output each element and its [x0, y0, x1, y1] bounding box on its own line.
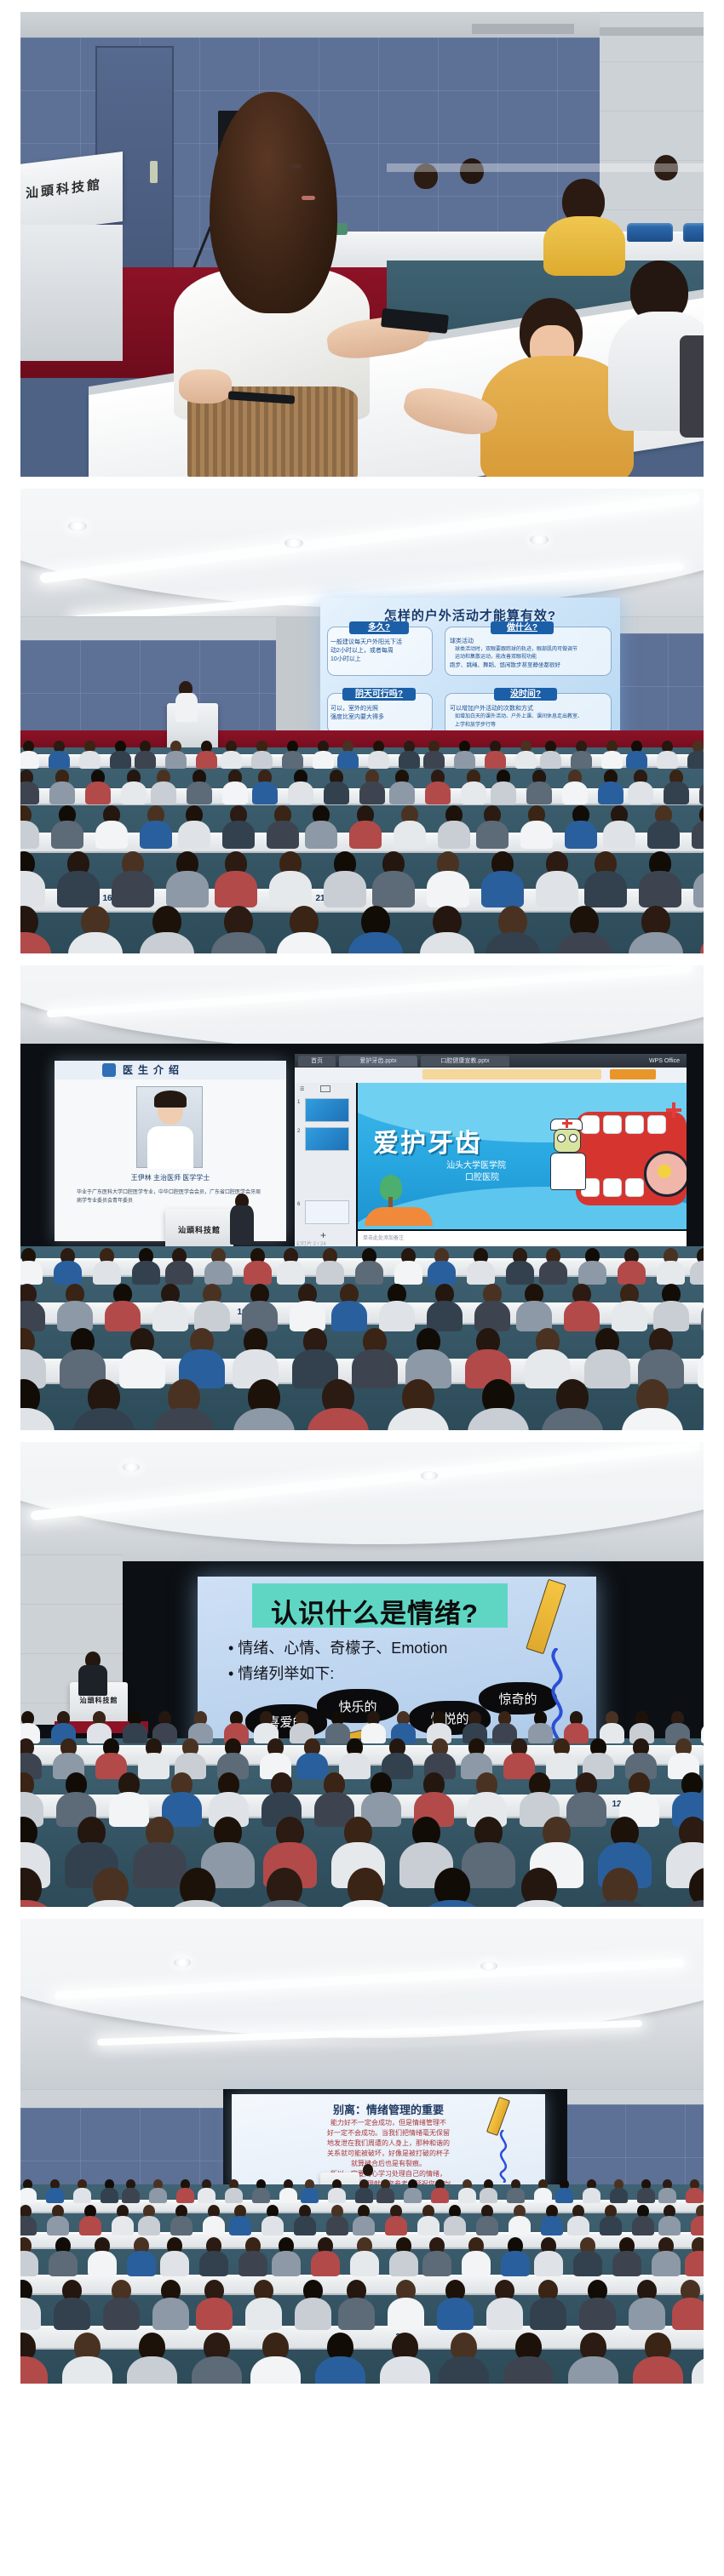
audience-torso: [288, 781, 313, 804]
photo-gallery-page: 汕頭科技館: [0, 0, 724, 2576]
audience-torso: [394, 821, 426, 849]
tooth-2: [603, 1115, 622, 1134]
tooth-4: [647, 1115, 666, 1134]
audience-torso: [313, 751, 334, 769]
audience-torso: [326, 2216, 349, 2235]
front-wall-blue-right-5: [566, 2104, 704, 2193]
audience-torso: [140, 821, 172, 849]
audience-torso: [88, 2251, 117, 2276]
audience-torso: [238, 2251, 267, 2276]
audience-torso: [565, 821, 597, 849]
tooth-3: [625, 1115, 644, 1134]
audience-torso: [509, 2216, 532, 2235]
audience-torso: [687, 751, 704, 769]
audience-torso: [338, 2298, 376, 2330]
audience-torso: [573, 2251, 602, 2276]
pc-projection-screen: 首页 爱护牙齿.pptx 口腔健康宣教.pptx WPS Office ☰ 1 …: [295, 1054, 687, 1248]
audience-torso: [267, 821, 299, 849]
doctor-intro-heading: 医生介绍: [123, 1063, 250, 1077]
audience-torso: [79, 2216, 102, 2235]
audience-torso: [566, 1792, 607, 1827]
audience-torso: [664, 781, 689, 804]
downlight-5-1: [174, 1958, 191, 1967]
audience-torso: [534, 2188, 552, 2203]
audience-torso: [151, 781, 176, 804]
audience-torso: [612, 1301, 647, 1331]
tooth-1: [581, 1115, 600, 1134]
audience-torso: [417, 2216, 440, 2235]
audience-torso: [176, 2188, 194, 2203]
audience-torso: [583, 2188, 600, 2203]
audience-torso: [647, 821, 680, 849]
dental-magnifier-bacteria: [658, 1165, 671, 1178]
far-row-desk: [387, 163, 704, 172]
audience-torso: [251, 751, 273, 769]
audience-torso: [555, 2188, 573, 2203]
audience-torso: [305, 821, 337, 849]
dental-ground-icon: [365, 1207, 433, 1226]
tooth-6: [603, 1178, 622, 1197]
ppt-notes-placeholder: 单击此处添加备注: [363, 1234, 404, 1241]
dentist-cap-cross-v: [566, 1119, 568, 1128]
audience-torso: [165, 1261, 192, 1285]
slide-body-line-2: 好一定不会成功。当我们把情绪毫无保留: [257, 2128, 520, 2138]
audience-torso: [152, 2298, 190, 2330]
audience-torso: [658, 2188, 676, 2203]
photo-3[interactable]: 医生介绍 王伊林 主治医师 医学学士 毕业于广东医科大学口腔医学专业，中华口腔医…: [20, 965, 704, 1430]
audience-torso: [404, 2188, 422, 2203]
slide-chip-3: 阴天可行吗?: [342, 688, 416, 701]
audience-torso: [203, 2216, 226, 2235]
audience-torso: [462, 1842, 515, 1888]
audience-torso: [49, 751, 70, 769]
audience-torso: [51, 821, 83, 849]
emotion-word-2: 快乐的: [317, 1689, 399, 1723]
audience-torso: [601, 751, 623, 769]
audience-torso: [520, 821, 553, 849]
audience-torso: [539, 1261, 566, 1285]
dentist-coat-icon: [550, 1153, 586, 1190]
audience-torso: [277, 1261, 304, 1285]
downlight-1: [68, 521, 87, 531]
slide-card-2-line-4: 跑步、跳绳、舞蹈、悠闲散步甚至静坐都很好: [450, 662, 560, 670]
audience-torso: [388, 2298, 425, 2330]
audience-torso: [486, 2298, 524, 2330]
slide-body-line-1: 能力好不一定会成功，但是情绪管理不: [257, 2118, 520, 2128]
audience-torso: [225, 2188, 243, 2203]
audience-torso: [101, 2188, 118, 2203]
audience-torso: [491, 781, 516, 804]
slide-chip-4: 没时间?: [494, 688, 557, 701]
audience-torso: [571, 751, 592, 769]
audience-torso: [194, 1301, 230, 1331]
audience-torso: [562, 781, 588, 804]
dental-slide: 爱护牙齿 汕头大学医学院 口腔医院: [358, 1083, 687, 1229]
audience-torso: [127, 2251, 156, 2276]
audience-torso: [352, 1349, 397, 1388]
downlight-4-1: [123, 1463, 140, 1472]
front-wall-blue: [20, 640, 276, 742]
audience-torso: [109, 1792, 150, 1827]
emotion-bullet-dot-2: •: [228, 1665, 238, 1682]
audience-torso: [361, 1723, 386, 1744]
audience-torso: [431, 2188, 449, 2203]
slide-card-1-line-1: 一般建议每天户外阳光下活: [330, 638, 402, 646]
audience-torso: [438, 821, 470, 849]
podium-label-3: 汕頭科技館: [165, 1224, 233, 1235]
audience-torso: [301, 2188, 319, 2203]
audience-torso: [485, 751, 506, 769]
audience-torso: [467, 1261, 494, 1285]
audience-torso: [20, 1301, 45, 1331]
audience-torso: [331, 1301, 367, 1331]
audience-torso: [379, 1301, 415, 1331]
ppt-thumb-2[interactable]: [305, 1127, 349, 1151]
audience-torso: [462, 2251, 491, 2276]
audience-torso: [325, 1723, 350, 1744]
audience-torso: [530, 2298, 567, 2330]
slide-body-line-4: 关系就可能被破坏，好像是被打破的杯子: [257, 2149, 520, 2159]
dentist-glasses-left: [557, 1134, 566, 1142]
presenter-eye: [290, 163, 302, 169]
slide-chip-2: 做什么?: [491, 621, 554, 634]
audience-torso: [105, 1301, 141, 1331]
podium-label-4: 汕頭科技館: [70, 1696, 128, 1705]
photo-5-scene: 别离：情绪管理的重要 能力好不一定会成功，但是情绪管理不 好一定不会成功。当我们…: [20, 1919, 704, 2384]
audience-torso: [85, 781, 111, 804]
audience-torso: [245, 2298, 283, 2330]
audience-torso: [458, 2188, 476, 2203]
audience-torso: [79, 751, 101, 769]
audience-torso: [567, 2216, 590, 2235]
speaker-body-3: [230, 1205, 254, 1245]
audience-torso: [658, 2216, 681, 2235]
audience-torso: [540, 751, 561, 769]
audience-torso: [178, 821, 210, 849]
audience-torso: [112, 871, 153, 907]
audience-torso: [324, 871, 365, 907]
audience-torso: [149, 2188, 167, 2203]
ppt-thumb-1[interactable]: [305, 1098, 349, 1122]
audience-torso: [187, 781, 212, 804]
slide-card-3-line-1: 可以，室外的光照: [330, 705, 378, 713]
audience-torso: [165, 751, 187, 769]
audience-torso: [20, 1261, 43, 1285]
emotion-slide-title: 认识什么是情绪?: [271, 1592, 479, 1630]
dental-slide-org-2: 口腔医院: [465, 1173, 499, 1184]
audience-torso: [528, 1723, 553, 1744]
photo-2[interactable]: 怎样的户外活动才能算有效? 多久? 一般建议每天户外阳光下活 动2小时以上，或者…: [20, 489, 704, 953]
presenter-body-2: [175, 693, 198, 722]
hospital-logo-icon: [102, 1063, 116, 1077]
audience-torso: [481, 871, 523, 907]
emotion-bullet-1: • 情绪、心情、奇檬子、Emotion: [228, 1636, 447, 1658]
downlight-5-2: [480, 1961, 497, 1971]
tooth-7: [625, 1178, 644, 1197]
audience-torso: [461, 781, 486, 804]
blue-squiggle-decoration-5: [492, 2130, 514, 2183]
ppt-slide-stage: 爱护牙齿 汕头大学医学院 口腔医院: [358, 1083, 687, 1229]
kid-backpack: [680, 335, 704, 438]
audience-torso: [122, 2188, 140, 2203]
audience-torso: [428, 1261, 455, 1285]
emotion-bullet-2-text: 情绪列举如下:: [238, 1665, 334, 1682]
audience-torso: [507, 2188, 525, 2203]
audience-torso: [269, 871, 311, 907]
photo-2-scene: 怎样的户外活动才能算有效? 多久? 一般建议每天户外阳光下活 动2小时以上，或者…: [20, 489, 704, 953]
slide-chip-1: 多久?: [349, 621, 409, 634]
audience-torso: [612, 2251, 641, 2276]
audience-torso: [653, 1301, 689, 1331]
slide-card-2-line-2: 球类活动时，双眼要跟踪球的轨迹，眼部肌肉可做调节: [455, 646, 577, 653]
emotion-bullet-1-text: 情绪、心情、奇檬子、Emotion: [238, 1640, 447, 1657]
audience-torso: [359, 781, 385, 804]
audience-torso: [133, 1842, 187, 1888]
ceiling-vent-mid: [472, 24, 574, 34]
slide-card-1-line-2: 动2小时以上，或者每周: [330, 647, 394, 655]
audience-torso: [578, 1261, 606, 1285]
pc-app-name: WPS Office: [649, 1056, 680, 1067]
audience-torso: [328, 2188, 346, 2203]
ppt-thumb-index-6: 6: [297, 1202, 300, 1207]
ppt-slide-view-icon[interactable]: [320, 1085, 330, 1092]
audience-torso: [222, 781, 248, 804]
audience-torso: [47, 2216, 70, 2235]
audience-torso: [480, 2188, 497, 2203]
audience-torso: [536, 871, 577, 907]
audience-torso: [20, 2216, 37, 2235]
doctor-name-line: 王伊林 主治医师 医学学士: [89, 1173, 252, 1182]
ppt-thumb-index-1: 1: [297, 1100, 300, 1105]
audience-torso: [425, 781, 451, 804]
audience-torso: [49, 2251, 78, 2276]
audience-torso: [112, 2216, 135, 2235]
audience-torso: [610, 2188, 628, 2203]
slide-card-4-line-2: 如增加白天的课外活动、户外上课、课间休息走出教室、: [455, 713, 583, 720]
audience-torso: [339, 1753, 370, 1779]
audience-torso: [110, 751, 131, 769]
pc-tab-oral-health[interactable]: 口腔健康宣教.pptx: [421, 1056, 509, 1067]
audience-torso: [546, 1753, 577, 1779]
audience-torso: [422, 2251, 451, 2276]
presenter-right-hand: [179, 369, 232, 404]
projection-screen-2: 怎样的户外活动才能算有效? 多久? 一般建议每天户外阳光下活 动2小时以上，或者…: [320, 598, 620, 744]
audience-torso: [394, 1261, 422, 1285]
front-wall-blue-right: [608, 633, 704, 744]
audience-torso: [503, 1753, 534, 1779]
audience-torso: [476, 821, 509, 849]
ppt-thumb-index-2: 2: [297, 1129, 300, 1134]
pc-tab-home[interactable]: 首页: [298, 1056, 336, 1067]
audience-torso: [294, 2216, 317, 2235]
audience-torso: [427, 871, 468, 907]
downlight-3: [530, 535, 549, 545]
audience-torso: [423, 751, 445, 769]
audience-torso: [476, 2216, 499, 2235]
audience-torso: [657, 1261, 684, 1285]
audience-torso: [376, 2188, 394, 2203]
audience-torso: [427, 1301, 463, 1331]
slide-card-2-line-1: 球类活动: [450, 638, 474, 645]
photo-4-scene: 认识什么是情绪? • 情绪、心情、奇檬子、Emotion • 情绪列举如下: 喜…: [20, 1442, 704, 1907]
audience-torso: [229, 2216, 252, 2235]
audience-torso: [242, 1301, 278, 1331]
photo-1[interactable]: 汕頭科技館: [20, 12, 704, 477]
audience-torso: [685, 2251, 704, 2276]
audience-torso: [196, 751, 217, 769]
audience-torso: [166, 871, 208, 907]
speaker-head-5: [363, 2164, 373, 2176]
audience-torso: [252, 2188, 270, 2203]
audience-torso: [399, 751, 420, 769]
audience-torso: [506, 1261, 533, 1285]
door-handle[interactable]: [150, 161, 158, 183]
audience-torso: [437, 2298, 474, 2330]
audience-torso: [20, 751, 39, 769]
audience-torso: [598, 781, 623, 804]
audience-torso: [385, 2216, 408, 2235]
audience-torso: [603, 821, 635, 849]
audience-torso: [337, 751, 359, 769]
dentist-glasses-right: [569, 1134, 577, 1142]
audience-torso: [221, 751, 242, 769]
audience-torso: [324, 781, 349, 804]
audience-torso: [686, 2188, 704, 2203]
slide-card-4-line-1: 可以增加户外活动的次数和方式: [450, 705, 533, 713]
audience-torso: [73, 2188, 91, 2203]
audience-torso: [526, 781, 552, 804]
projection-screen-5: 别离：情绪管理的重要 能力好不一定会成功，但是情绪管理不 好一定不会成功。当我们…: [232, 2094, 545, 2190]
audience-torso: [350, 2251, 379, 2276]
pc-ribbon-button[interactable]: [610, 1069, 656, 1079]
audience-torso: [103, 2298, 141, 2330]
audience-torso: [652, 2251, 681, 2276]
audience-torso: [290, 1301, 325, 1331]
audience-torso: [454, 751, 475, 769]
slide-card-1-line-3: 10小时以上: [330, 655, 361, 663]
audience-torso: [296, 1753, 327, 1779]
downlight-4-2: [421, 1471, 438, 1480]
kid-shirt-yellow: [543, 216, 625, 276]
audience-torso: [119, 1349, 164, 1388]
audience-torso: [637, 2188, 655, 2203]
audience-torso: [618, 1261, 645, 1285]
audience-torso: [639, 871, 681, 907]
audience-torso: [632, 2216, 655, 2235]
audience-torso: [584, 871, 626, 907]
audience-torso: [152, 1301, 188, 1331]
audience-torso: [629, 2298, 666, 2330]
audience-torso: [282, 751, 303, 769]
audience-torso: [222, 821, 255, 849]
ppt-thumb-6[interactable]: [305, 1200, 349, 1224]
audience-torso: [170, 2216, 193, 2235]
ceiling-vent-right: [600, 27, 704, 36]
audience-torso: [95, 821, 128, 849]
doctor-portrait: [136, 1086, 203, 1168]
audience-torso: [244, 1261, 271, 1285]
audience-torso: [215, 871, 256, 907]
audience-torso: [199, 2251, 228, 2276]
audience-torso: [198, 2188, 215, 2203]
audience-torso: [57, 871, 99, 907]
photo-1-scene: 汕頭科技館: [20, 12, 704, 477]
audience-torso: [57, 1301, 93, 1331]
background-seat-2: [627, 223, 673, 242]
photo-3-scene: 医生介绍 王伊林 主治医师 医学学士 毕业于广东医科大学口腔医学专业，中华口腔医…: [20, 965, 704, 1430]
audience-torso: [311, 2251, 340, 2276]
audience-torso: [657, 751, 678, 769]
audience-torso: [54, 1261, 81, 1285]
audience-torso: [672, 2298, 704, 2330]
audience-torso: [261, 2216, 284, 2235]
emotion-bullet-2: • 情绪列举如下:: [228, 1662, 334, 1684]
presenter-mouth: [302, 196, 315, 200]
audience-torso: [515, 751, 537, 769]
audience-torso: [49, 781, 75, 804]
downlight-2: [284, 538, 303, 548]
slide-red-cross-v: [672, 1102, 675, 1118]
doctor-portrait-hair: [154, 1091, 187, 1108]
audience-torso: [204, 1261, 232, 1285]
audience-torso: [389, 2251, 418, 2276]
audience-torso: [252, 781, 278, 804]
audience-torso: [46, 2188, 64, 2203]
audience-torso: [138, 1753, 169, 1779]
audience-torso: [600, 2216, 623, 2235]
audience-torso: [584, 1349, 629, 1388]
audience-torso: [295, 2298, 332, 2330]
audience-torso: [355, 2188, 373, 2203]
photo-4[interactable]: 认识什么是情绪? • 情绪、心情、奇檬子、Emotion • 情绪列举如下: 喜…: [20, 1442, 704, 1907]
audience-torso: [20, 781, 39, 804]
background-seat-3: [683, 223, 704, 242]
audience-torso: [349, 821, 382, 849]
slide-body-5: 能力好不一定会成功，但是情绪管理不 好一定不会成功。当我们把情绪毫无保留 地发泄…: [257, 2118, 520, 2190]
pc-ribbon-notice: [422, 1069, 601, 1079]
ppt-notes-pane[interactable]: [358, 1231, 687, 1248]
audience-torso: [93, 1261, 120, 1285]
audience-torso: [196, 2298, 233, 2330]
ppt-outline-icon[interactable]: ☰: [300, 1086, 304, 1092]
audience-torso: [690, 1261, 704, 1285]
audience-torso: [353, 2216, 376, 2235]
slide-card-2-line-3: 运动和集散运动，能改善双眼视功能: [455, 654, 537, 661]
photo-5[interactable]: 别离：情绪管理的重要 能力好不一定会成功，但是情绪管理不 好一定不会成功。当我们…: [20, 1919, 704, 2384]
audience-torso: [628, 781, 653, 804]
audience-torso: [316, 1261, 343, 1285]
speaker-body-4: [78, 1665, 107, 1696]
audience-torso: [20, 2251, 38, 2276]
ppt-thumbnail-strip[interactable]: ☰ 1 2 6 +: [295, 1083, 356, 1248]
podium-sign-base: [20, 225, 123, 361]
audience-torso: [444, 2216, 467, 2235]
audience-torso: [389, 781, 415, 804]
dental-slide-title: 爱护牙齿: [373, 1122, 482, 1159]
audience-torso: [135, 751, 156, 769]
slide-body-line-5: 就算缝合后也是有裂痕。: [257, 2159, 520, 2169]
slide-card-4-line-3: 上学和放学步行等: [455, 722, 496, 729]
audience-torso: [160, 2251, 189, 2276]
audience-torso: [626, 751, 647, 769]
audience-torso: [534, 2251, 563, 2276]
audience-torso: [272, 2251, 301, 2276]
audience-torso: [474, 1301, 510, 1331]
audience-torso: [20, 871, 45, 907]
pc-tab-dental[interactable]: 爱护牙齿.pptx: [339, 1056, 417, 1067]
audience-torso: [20, 2188, 37, 2203]
slide-body-line-3: 地发泄在我们周遭的人身上，那种和谐的: [257, 2138, 520, 2149]
